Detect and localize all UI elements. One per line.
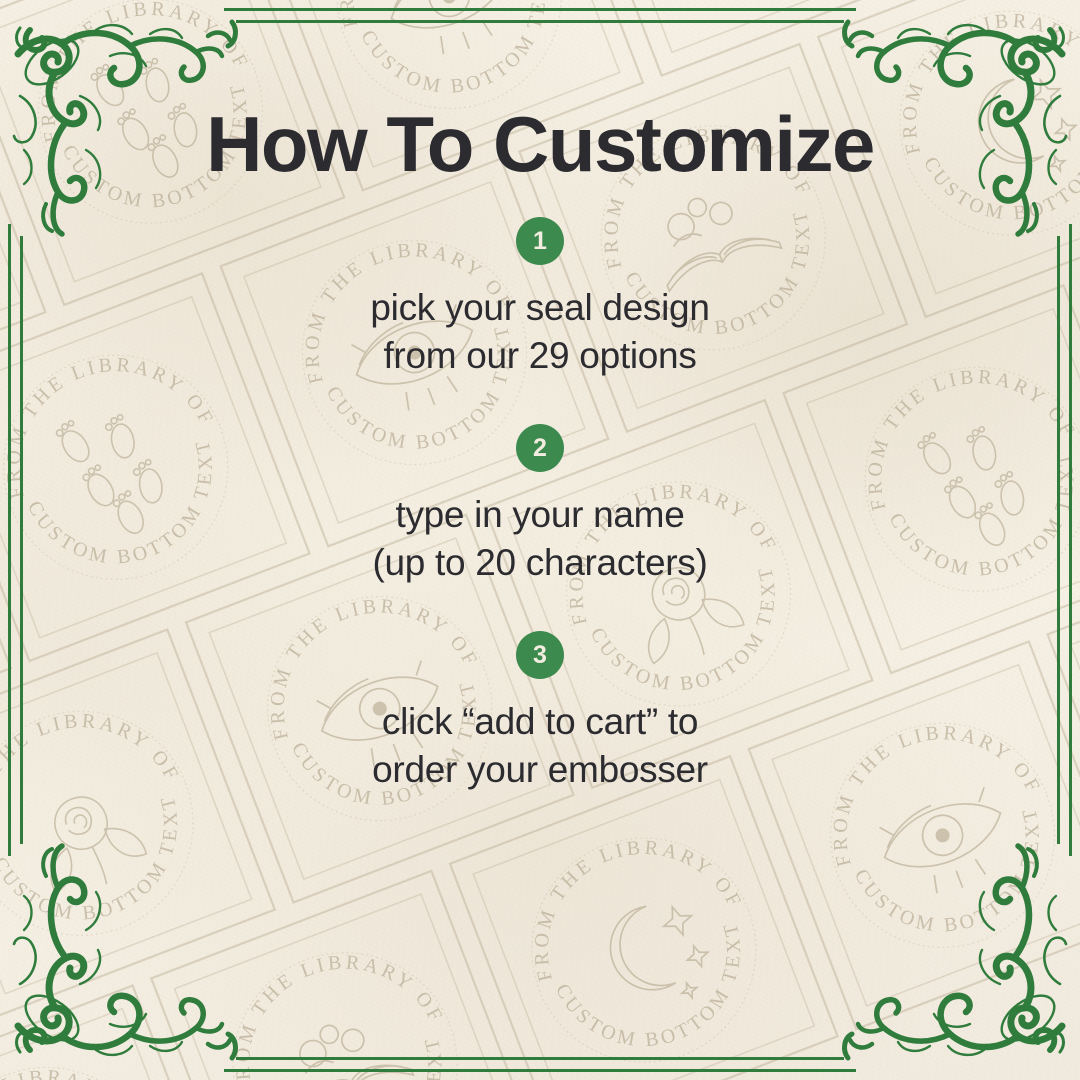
step-description-line: type in your name bbox=[372, 491, 707, 539]
content-area: How To Customize 1 pick your seal design… bbox=[0, 0, 1080, 1080]
step-number-badge: 3 bbox=[516, 631, 564, 679]
steps-list: 1 pick your seal design from our 29 opti… bbox=[370, 217, 709, 795]
step-description-line: (up to 20 characters) bbox=[372, 539, 707, 587]
step-description-line: order your embosser bbox=[372, 746, 708, 794]
promo-graphic: FROM THE LIBRARY OF CUSTOM BOTTOM TEXT bbox=[0, 0, 1080, 1080]
step-description: click “add to cart” to order your emboss… bbox=[372, 698, 708, 794]
step-item: 2 type in your name (up to 20 characters… bbox=[372, 424, 707, 587]
step-number-badge: 1 bbox=[516, 217, 564, 265]
step-description-line: pick your seal design bbox=[370, 284, 709, 332]
step-item: 1 pick your seal design from our 29 opti… bbox=[370, 217, 709, 380]
step-number-badge: 2 bbox=[516, 424, 564, 472]
step-description-line: click “add to cart” to bbox=[372, 698, 708, 746]
step-description: pick your seal design from our 29 option… bbox=[370, 284, 709, 380]
page-title: How To Customize bbox=[206, 105, 874, 183]
step-description-line: from our 29 options bbox=[370, 332, 709, 380]
step-description: type in your name (up to 20 characters) bbox=[372, 491, 707, 587]
step-item: 3 click “add to cart” to order your embo… bbox=[372, 631, 708, 794]
